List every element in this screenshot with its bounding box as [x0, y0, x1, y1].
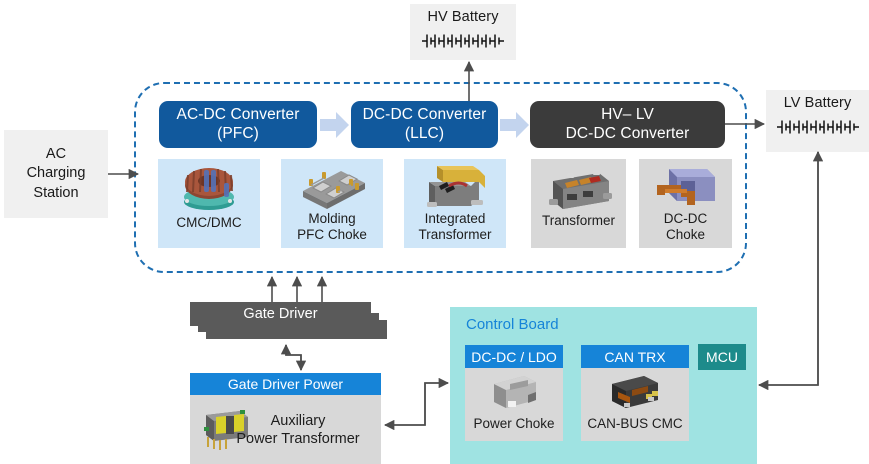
mcu-box[interactable]: MCU [698, 344, 746, 370]
gate-driver-power-header[interactable]: Gate Driver Power [190, 373, 381, 395]
stage-hv-lv-dc-dc-converter[interactable]: HV– LV DC-DC Converter [530, 101, 725, 148]
component-label: DC-DC Choke [662, 211, 710, 243]
can-bus-cmc-icon [604, 368, 666, 416]
chip-header-label: CAN TRX [604, 349, 665, 365]
stage-label: HV– LV DC-DC Converter [566, 106, 690, 143]
component-label: Power Choke [473, 416, 554, 431]
mcu-label: MCU [706, 349, 738, 365]
ac-charging-station-label: AC Charging Station [27, 145, 86, 204]
component-label: CMC/DMC [174, 215, 243, 231]
dcdc-choke-icon [651, 159, 721, 211]
chip-header-label: DC-DC / LDO [471, 349, 557, 365]
component-label: Integrated Transformer [416, 211, 493, 243]
chevron-right-icon-2 [500, 112, 530, 138]
chevron-right-icon-1 [320, 112, 350, 138]
wire-cb-to-lvbat [759, 152, 818, 385]
control-block-body-power-choke[interactable]: Power Choke [465, 368, 563, 441]
component-tile-cmc-dmc[interactable]: CMC/DMC [158, 159, 260, 248]
stage-label: DC-DC Converter (LLC) [363, 106, 487, 143]
lv-battery-box: LV Battery [766, 90, 869, 152]
gate-driver-box[interactable]: Gate Driver [190, 302, 371, 326]
toroidal-choke-icon [178, 159, 240, 215]
hv-battery-label: HV Battery [427, 4, 498, 27]
component-tile-transformer[interactable]: Transformer [531, 159, 626, 248]
control-block-header-dc-dc-ldo[interactable]: DC-DC / LDO [465, 345, 563, 368]
wire-gd-to-gdp [286, 345, 301, 370]
control-block-body-can-bus-cmc[interactable]: CAN-BUS CMC [581, 368, 689, 441]
component-tile-dc-dc-choke[interactable]: DC-DC Choke [639, 159, 732, 248]
component-tile-molding-pfc-choke[interactable]: Molding PFC Choke [281, 159, 383, 248]
gate-driver-power-label: Gate Driver Power [228, 376, 343, 392]
diagram-canvas: HV Battery [0, 0, 869, 464]
wire-cb-to-gdp [385, 383, 448, 425]
component-label: Molding PFC Choke [295, 211, 369, 243]
ac-charging-station-box: AC Charging Station [4, 130, 108, 218]
lv-battery-label: LV Battery [784, 90, 852, 113]
wire-lvbat-to-cb [759, 152, 818, 385]
wire-gdp-to-gd [286, 345, 301, 370]
control-block-header-can-trx[interactable]: CAN TRX [581, 345, 689, 368]
stage-label: AC-DC Converter (PFC) [177, 106, 300, 143]
battery-series-icon [776, 117, 860, 137]
gate-driver-label: Gate Driver [243, 306, 317, 322]
control-board-title: Control Board [466, 316, 559, 333]
component-label: CAN-BUS CMC [587, 416, 682, 431]
stage-ac-dc-converter-pfc[interactable]: AC-DC Converter (PFC) [159, 101, 317, 148]
stage-dc-dc-converter-llc[interactable]: DC-DC Converter (LLC) [351, 101, 498, 148]
transformer-icon [543, 159, 615, 213]
gate-driver-power-body: Auxiliary Power Transformer [190, 395, 381, 464]
aux-transformer-label: Auxiliary Power Transformer [223, 411, 373, 447]
molded-choke-icon [295, 159, 369, 211]
component-tile-integrated-transformer[interactable]: Integrated Transformer [404, 159, 506, 248]
integrated-transformer-icon [419, 159, 491, 211]
wire-gdp-to-cb [385, 383, 448, 425]
battery-series-icon [421, 31, 505, 51]
power-choke-icon [484, 368, 544, 416]
component-label: Transformer [540, 213, 617, 229]
hv-battery-box: HV Battery [410, 4, 516, 60]
